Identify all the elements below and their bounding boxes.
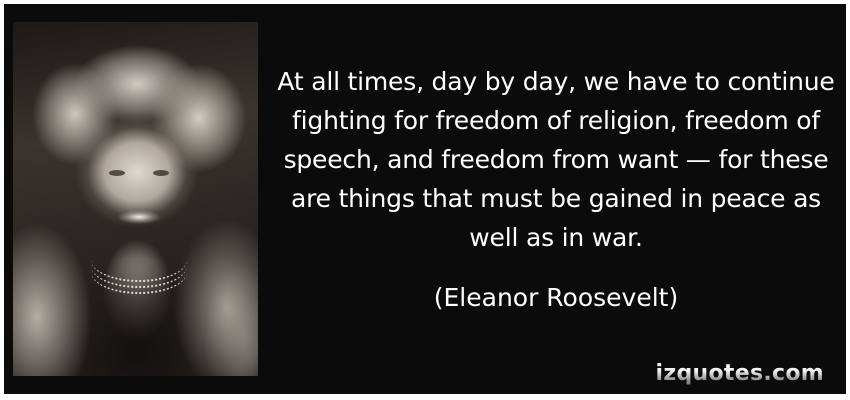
quote-card: At all times, day by day, we have to con… — [0, 0, 850, 400]
portrait-photo — [13, 22, 258, 376]
quote-author-attribution: (Eleanor Roosevelt) — [266, 282, 846, 314]
quote-text-column: At all times, day by day, we have to con… — [266, 4, 846, 394]
pearl-necklace — [91, 258, 187, 292]
site-watermark: izquotes.com — [656, 361, 824, 386]
pearl-strand — [91, 270, 187, 294]
portrait-eye-left — [109, 170, 125, 176]
quote-canvas: At all times, day by day, we have to con… — [4, 4, 846, 394]
portrait-eye-right — [153, 170, 169, 176]
quote-body-text: At all times, day by day, we have to con… — [266, 62, 846, 257]
portrait-image — [13, 22, 258, 376]
portrait-smile — [117, 210, 161, 224]
